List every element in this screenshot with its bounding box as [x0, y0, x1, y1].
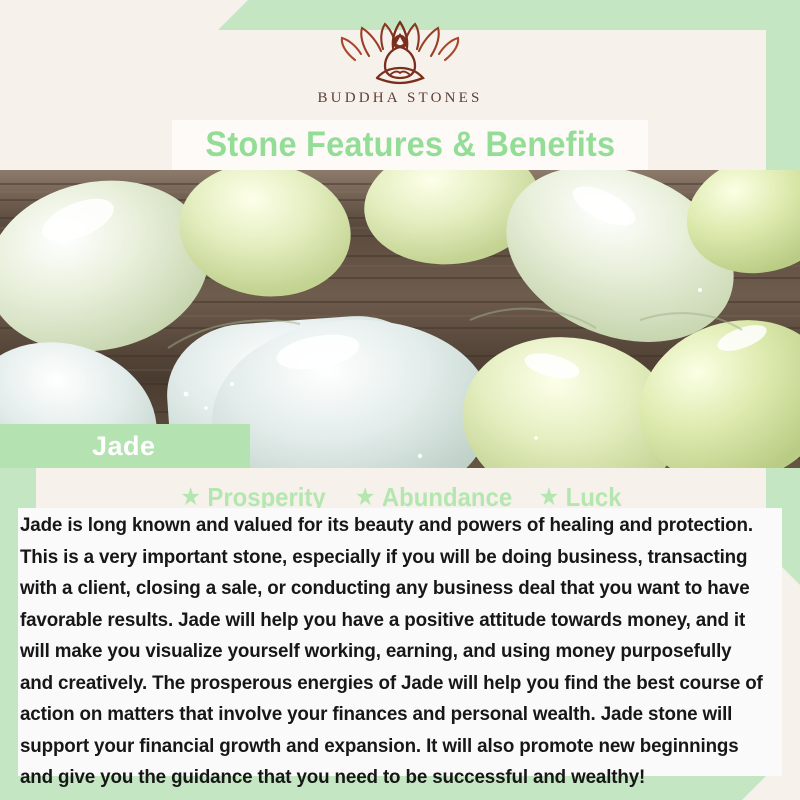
infographic-page: BUDDHA STONES Stone Features & Benefits [0, 0, 800, 800]
brand-logo: BUDDHA STONES [0, 16, 800, 120]
title-banner: Stone Features & Benefits [172, 120, 648, 170]
page-title: Stone Features & Benefits [205, 125, 615, 165]
brand-wordmark: BUDDHA STONES [317, 90, 482, 107]
star-icon: ★ [539, 485, 560, 510]
star-icon: ★ [355, 485, 376, 510]
description-paragraph: Jade is long known and valued for its be… [18, 508, 771, 794]
lotus-meditation-icon [325, 16, 475, 88]
star-icon: ★ [181, 485, 202, 510]
stone-name-banner: Jade [0, 424, 250, 468]
description-card: Jade is long known and valued for its be… [18, 508, 782, 776]
stone-name-label: Jade [92, 431, 156, 462]
